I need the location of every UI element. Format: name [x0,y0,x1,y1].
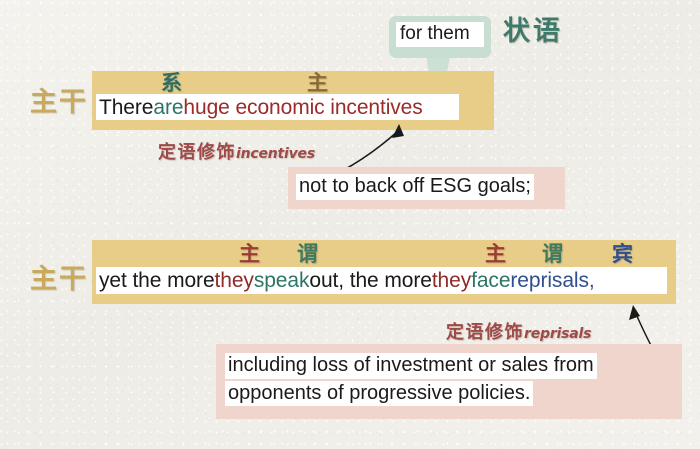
annotation-modifies-reprisals: 定语修饰reprisals [446,324,591,342]
sentence2-word-2: speak [254,270,310,291]
pos-tag-s1-0: 系 [161,73,182,94]
sentence2-word-5: face [471,270,510,291]
pink2-line-1: opponents of progressive policies. [225,381,533,407]
annotation2-cn: 定语修饰 [446,322,524,343]
pink2-line-1-wrap: opponents of progressive policies. [225,381,682,407]
annotation1-cn: 定语修饰 [158,142,236,163]
pos-tag-s2-2: 主 [485,244,506,265]
callout-for-them-text: for them [396,22,484,47]
sentence1-word-1: are [153,97,183,118]
pink-box-1: not to back off ESG goals; [288,167,565,209]
pos-tag-s2-0: 主 [239,244,260,265]
sentence2-word-6: reprisals, [510,270,594,291]
pink-box-2: including loss of investment or sales fr… [216,344,682,419]
pos-tag-s2-4: 宾 [612,244,633,265]
pos-tag-s2-1: 谓 [297,244,318,265]
sentence1-word-2: huge economic incentives [183,97,422,118]
callout-for-them[interactable]: for them [389,16,491,58]
annotation-modifies-incentives: 定语修饰incentives [158,144,315,162]
pos-tag-s2-3: 谓 [542,244,563,265]
pos-tag-s1-1: 主 [307,73,328,94]
trunk-label-2: 主干 [30,266,88,293]
sentence2-word-3: out, the more [309,270,431,291]
pos-tag-adverbial: 状语 [503,18,563,45]
sentence1-text-box: There are huge economic incentives [96,94,459,120]
sentence2-word-0: yet the more [99,270,215,291]
annotation1-en: incentives [236,146,315,162]
pink2-line-0: including loss of investment or sales fr… [225,353,597,379]
annotation2-en: reprisals [524,326,591,342]
sentence1-word-0: There [99,97,153,118]
sentence2-word-1: they [215,270,254,291]
trunk-label-1: 主干 [30,89,88,116]
slide-canvas: for them 状语 主干 系 主 There are huge econom… [0,0,700,449]
sentence2-word-4: they [432,270,471,291]
sentence2-text-box: yet the more they speak out, the more th… [96,267,667,294]
pink1-line-0: not to back off ESG goals; [296,174,534,200]
pink2-line-0-wrap: including loss of investment or sales fr… [225,353,682,379]
